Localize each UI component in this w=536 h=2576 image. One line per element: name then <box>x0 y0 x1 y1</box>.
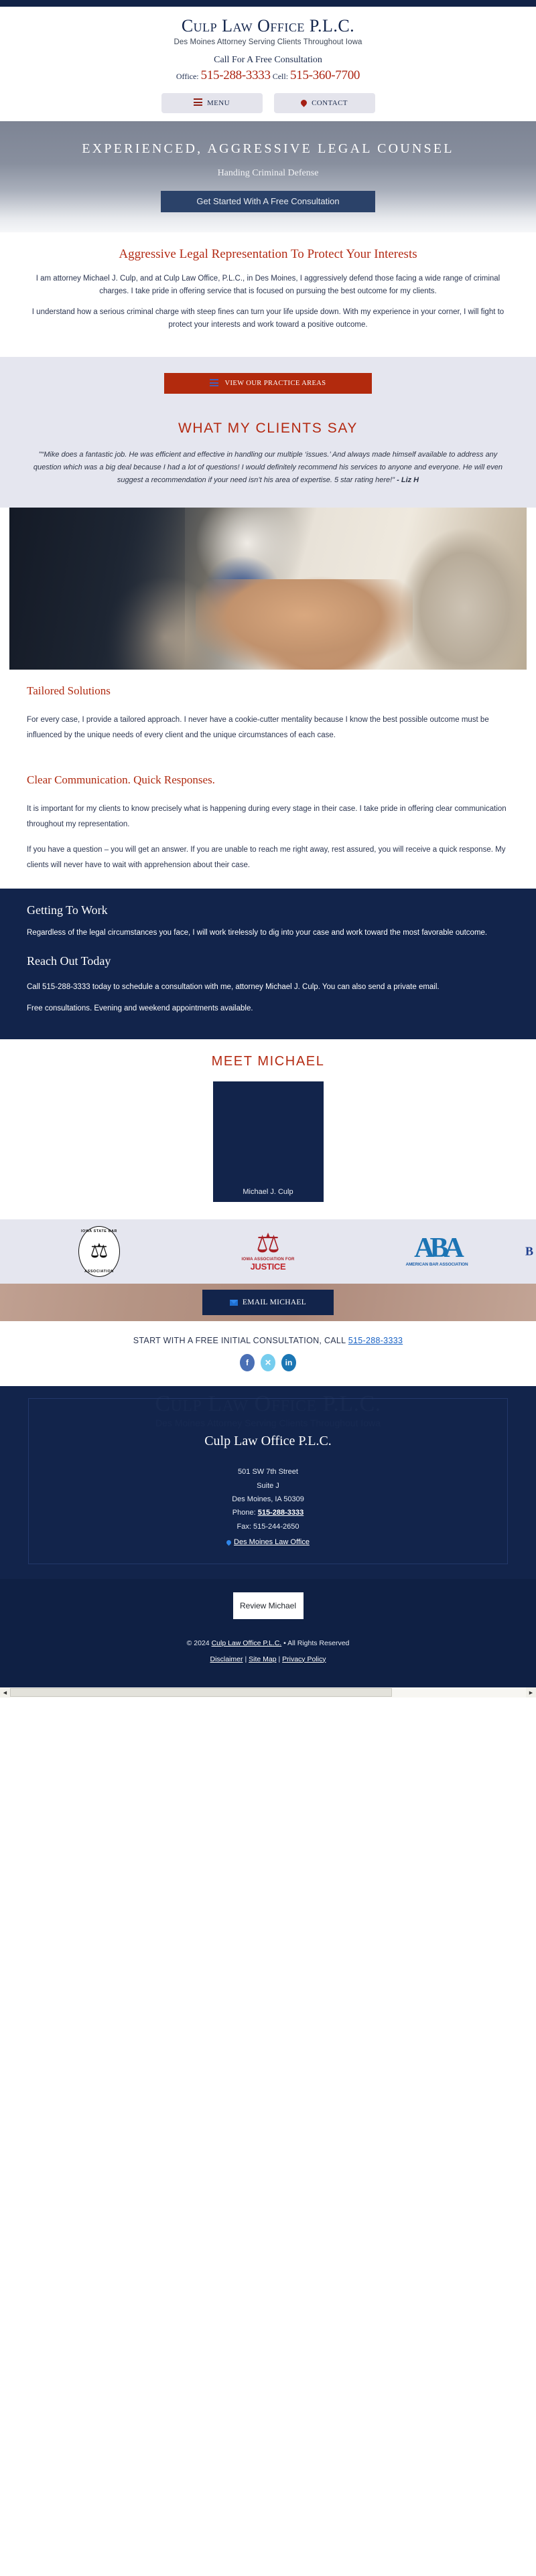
menu-button[interactable]: MENU <box>161 93 263 113</box>
brand-title: Culp Law Office P.L.C. <box>0 16 536 36</box>
hamburger-icon <box>210 379 218 388</box>
section-heading: Clear Communication. Quick Responses. <box>27 773 509 787</box>
email-michael-button[interactable]: EMAIL MICHAEL <box>202 1290 334 1315</box>
testimonial-quote: "“Mike does a fantastic job. He was effi… <box>29 449 507 486</box>
consultation-phone-link[interactable]: 515-288-3333 <box>348 1336 403 1345</box>
footer-fax: Fax: 515-244-2650 <box>29 1520 507 1533</box>
footer-city: Des Moines, IA 50309 <box>29 1493 507 1506</box>
header-buttons: MENU CONTACT <box>0 93 536 113</box>
scroll-right-arrow-icon[interactable]: ▶ <box>526 1687 536 1697</box>
disclaimer-link[interactable]: Disclaimer <box>210 1655 243 1663</box>
page-root: Culp Law Office P.L.C. Des Moines Attorn… <box>0 0 536 1697</box>
envelope-icon <box>230 1300 238 1306</box>
consultation-text: START WITH A FREE INITIAL CONSULTATION, … <box>133 1336 346 1345</box>
badge-american-bar-association[interactable]: ABA AMERICAN BAR ASSOCIATION <box>352 1237 521 1268</box>
header-phones: Office: 515-288-3333 Cell: 515-360-7700 <box>0 68 536 83</box>
cell-phone-link[interactable]: 515-360-7700 <box>290 68 360 82</box>
meet-michael-section: MEET MICHAEL Michael J. Culp <box>0 1039 536 1219</box>
copyright-suffix: • All Rights Reserved <box>283 1639 349 1647</box>
section-paragraph: It is important for my clients to know p… <box>27 802 509 832</box>
intro-section: Aggressive Legal Representation To Prote… <box>0 232 536 358</box>
tailored-solutions-section: Tailored Solutions For every case, I pro… <box>0 670 536 759</box>
testimonials-section: WHAT MY CLIENTS SAY "“Mike does a fantas… <box>0 416 536 508</box>
getting-to-work-heading: Getting To Work <box>27 903 509 917</box>
x-twitter-icon[interactable]: ✕ <box>261 1354 275 1371</box>
aba-caption: AMERICAN BAR ASSOCIATION <box>405 1262 468 1267</box>
reach-out-heading: Reach Out Today <box>27 954 509 968</box>
iowa-state-bar-logo-icon: IOWA STATE BAR ⚖ ASSOCIATION <box>78 1226 120 1277</box>
footer-firm-name: Culp Law Office P.L.C. <box>29 1434 507 1449</box>
footer-bottom: Review Michael © 2024 Culp Law Office P.… <box>0 1579 536 1687</box>
practice-areas-band: VIEW OUR PRACTICE AREAS <box>0 357 536 416</box>
section-paragraph: For every case, I provide a tailored app… <box>27 712 509 743</box>
contact-button[interactable]: CONTACT <box>274 93 375 113</box>
social-links: f ✕ in <box>0 1354 536 1371</box>
hero-subhead: Handing Criminal Defense <box>20 168 516 179</box>
office-phone-link[interactable]: 515-288-3333 <box>201 68 271 82</box>
footer-address: 501 SW 7th Street Suite J Des Moines, IA… <box>29 1465 507 1549</box>
map-pin-icon <box>226 1539 232 1545</box>
badge-iowa-state-bar[interactable]: IOWA STATE BAR ⚖ ASSOCIATION <box>15 1226 184 1277</box>
aba-logo-icon: ABA <box>414 1237 460 1261</box>
footer-phone-label: Phone: <box>232 1509 256 1517</box>
brand-tagline: Des Moines Attorney Serving Clients Thro… <box>0 38 536 46</box>
site-map-link[interactable]: Site Map <box>249 1655 276 1663</box>
badge-iowa-association-justice[interactable]: ⚖ IOWA ASSOCIATION FOR JUSTICE <box>184 1231 352 1272</box>
attorney-name: Michael J. Culp <box>213 1188 324 1196</box>
footer-phone-link[interactable]: 515-288-3333 <box>258 1509 304 1517</box>
menu-button-label: MENU <box>207 99 230 107</box>
intro-paragraph-2: I understand how a serious criminal char… <box>24 306 512 331</box>
view-practice-areas-button[interactable]: VIEW OUR PRACTICE AREAS <box>164 373 372 394</box>
site-footer: Culp Law Office P.L.C. Des Moines Attorn… <box>0 1386 536 1579</box>
hamburger-icon <box>194 98 202 108</box>
footer-legal-links: Disclaimer | Site Map | Privacy Policy <box>0 1652 536 1667</box>
attorney-photo-card[interactable]: Michael J. Culp <box>213 1081 324 1202</box>
footer-street: 501 SW 7th Street <box>29 1465 507 1479</box>
contact-button-label: CONTACT <box>312 99 348 107</box>
top-accent-bar <box>0 0 536 7</box>
copyright-firm-link[interactable]: Culp Law Office P.L.C. <box>212 1639 282 1647</box>
link-separator: | <box>245 1655 247 1663</box>
clear-communication-section: Clear Communication. Quick Responses. It… <box>0 759 536 889</box>
isba-top-text: IOWA STATE BAR <box>79 1229 119 1233</box>
scales-of-justice-icon: ⚖ <box>90 1241 108 1262</box>
privacy-policy-link[interactable]: Privacy Policy <box>282 1655 326 1663</box>
consultation-section: START WITH A FREE INITIAL CONSULTATION, … <box>0 1321 536 1386</box>
iaj-line-1: IOWA ASSOCIATION FOR <box>241 1257 294 1262</box>
link-separator: | <box>278 1655 280 1663</box>
practice-button-label: VIEW OUR PRACTICE AREAS <box>224 380 326 387</box>
site-header: Culp Law Office P.L.C. Des Moines Attorn… <box>0 7 536 121</box>
office-label: Office: <box>176 72 199 81</box>
scroll-left-arrow-icon[interactable]: ◀ <box>0 1687 10 1697</box>
reach-out-paragraph-1: Call 515-288-3333 today to schedule a co… <box>27 980 509 994</box>
copyright-prefix: © 2024 <box>187 1639 210 1647</box>
cell-label: Cell: <box>273 72 288 81</box>
association-badges: IOWA STATE BAR ⚖ ASSOCIATION ⚖ IOWA ASSO… <box>0 1219 536 1284</box>
testimonial-author: - Liz H <box>397 476 419 484</box>
call-prompt: Call For A Free Consultation <box>0 55 536 66</box>
facebook-icon[interactable]: f <box>240 1354 255 1371</box>
meet-michael-heading: MEET MICHAEL <box>0 1054 536 1069</box>
footer-map-row: Des Moines Law Office <box>29 1535 507 1549</box>
hero-cta-button[interactable]: Get Started With A Free Consultation <box>161 191 375 212</box>
badge-partial-next-icon: B <box>525 1245 533 1259</box>
footer-map-link[interactable]: Des Moines Law Office <box>234 1538 310 1546</box>
review-michael-button[interactable]: Review Michael <box>233 1592 304 1619</box>
section-paragraph: If you have a question – you will get an… <box>27 842 509 873</box>
intro-paragraph-1: I am attorney Michael J. Culp, and at Cu… <box>24 273 512 297</box>
footer-phone-row: Phone: 515-288-3333 <box>29 1506 507 1519</box>
hero-headline: EXPERIENCED, AGGRESSIVE LEGAL COUNSEL <box>20 139 516 159</box>
map-pin-icon <box>299 99 308 108</box>
intro-heading: Aggressive Legal Representation To Prote… <box>24 247 512 262</box>
consultation-line: START WITH A FREE INITIAL CONSULTATION, … <box>0 1336 536 1345</box>
scrollbar-thumb[interactable] <box>10 1688 392 1697</box>
isba-bottom-text: ASSOCIATION <box>79 1270 119 1274</box>
reach-out-paragraph-2: Free consultations. Evening and weekend … <box>27 1002 509 1015</box>
testimonial-text: "“Mike does a fantastic job. He was effi… <box>33 451 503 483</box>
scales-of-justice-icon: ⚖ <box>256 1231 280 1256</box>
email-band: EMAIL MICHAEL <box>0 1284 536 1321</box>
getting-to-work-paragraph: Regardless of the legal circumstances yo… <box>27 926 509 939</box>
linkedin-icon[interactable]: in <box>281 1354 296 1371</box>
testimonials-heading: WHAT MY CLIENTS SAY <box>29 421 507 437</box>
handshake-photo <box>9 508 527 670</box>
handshake-photo-wrap <box>0 508 536 670</box>
section-heading: Tailored Solutions <box>27 684 509 698</box>
hero-section: EXPERIENCED, AGGRESSIVE LEGAL COUNSEL Ha… <box>0 121 536 232</box>
footer-suite: Suite J <box>29 1479 507 1493</box>
horizontal-scrollbar[interactable]: ◀ ▶ <box>0 1687 536 1697</box>
footer-contact-box: Culp Law Office P.L.C. 501 SW 7th Street… <box>28 1398 508 1564</box>
scrollbar-track[interactable] <box>10 1687 526 1697</box>
email-button-label: EMAIL MICHAEL <box>243 1298 306 1306</box>
getting-to-work-section: Getting To Work Regardless of the legal … <box>0 889 536 1039</box>
iaj-line-2: JUSTICE <box>251 1262 286 1272</box>
copyright-line: © 2024 Culp Law Office P.L.C. • All Righ… <box>0 1636 536 1651</box>
